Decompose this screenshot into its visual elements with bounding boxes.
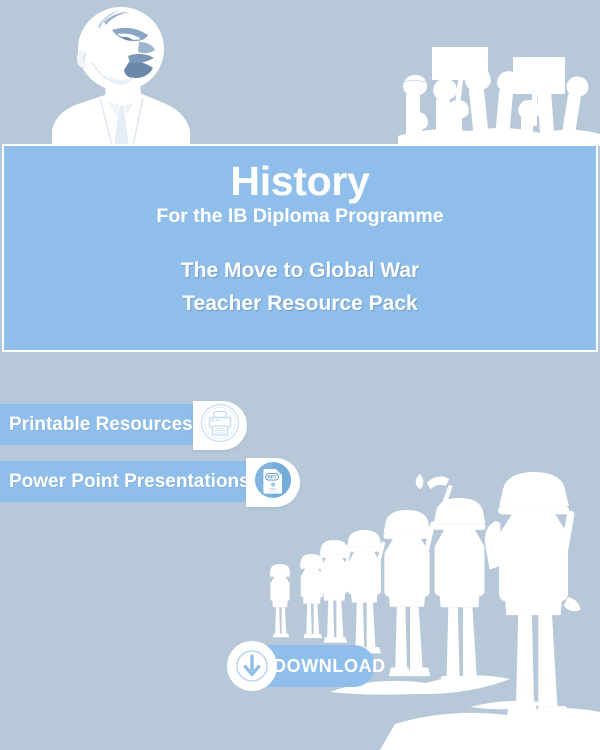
topic-title: The Move to Global War [4, 228, 596, 288]
page-subtitle: For the IB Diploma Programme [4, 203, 596, 228]
printable-resources-button[interactable]: Printable Resources [0, 404, 247, 445]
powerpoint-file-icon: PPT [252, 459, 294, 506]
download-button[interactable]: DOWNLOAD [227, 645, 375, 687]
powerpoint-presentations-button[interactable]: Power Point Presentations PPT [0, 461, 300, 502]
download-arrow-icon[interactable] [227, 641, 277, 691]
powerpoint-presentations-label: Power Point Presentations [0, 461, 248, 502]
printer-icon-capsule[interactable] [193, 401, 247, 450]
download-label: DOWNLOAD [273, 645, 368, 687]
printable-resources-label: Printable Resources [0, 404, 195, 445]
svg-text:PPT: PPT [267, 474, 276, 480]
title-banner: History For the IB Diploma Programme The… [2, 144, 598, 352]
top-illustration [0, 0, 600, 146]
pack-title: Teacher Resource Pack [4, 288, 596, 321]
powerpoint-icon-capsule[interactable]: PPT [246, 458, 300, 507]
page-title: History [4, 146, 596, 203]
resource-pack-cover: History For the IB Diploma Programme The… [0, 0, 600, 750]
printer-icon [199, 402, 241, 449]
